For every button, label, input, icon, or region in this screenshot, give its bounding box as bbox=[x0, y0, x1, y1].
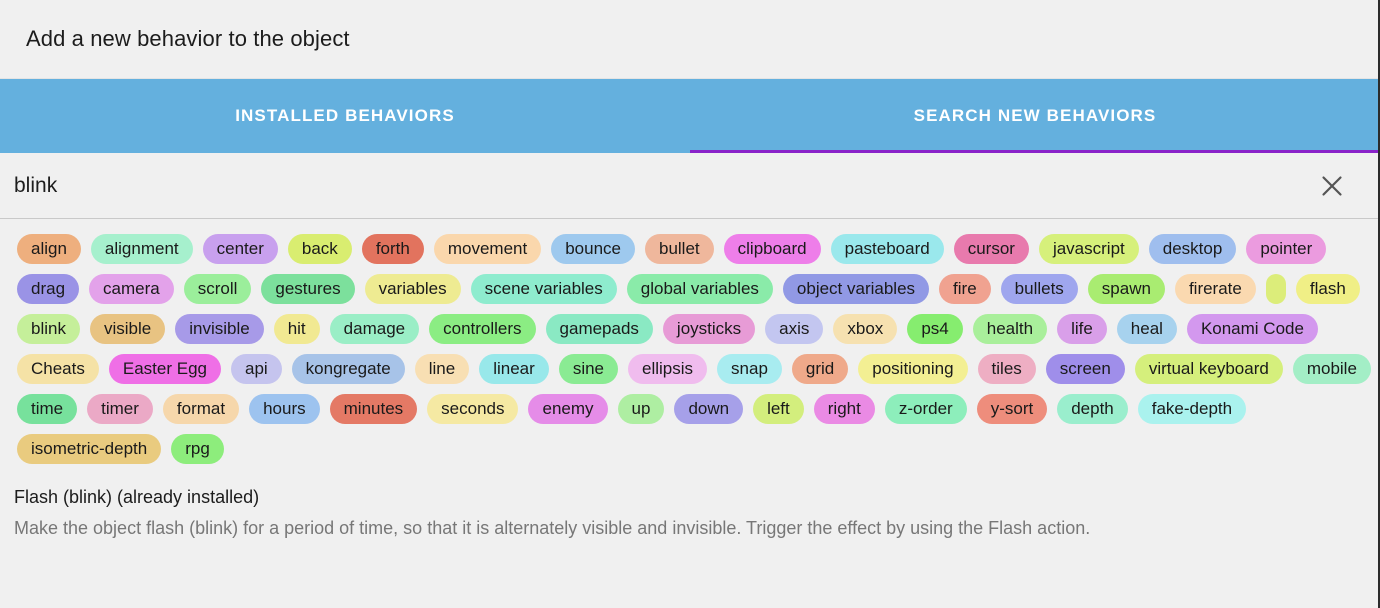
tag-chip[interactable]: object variables bbox=[783, 274, 929, 304]
behavior-title: Flash (blink) (already installed) bbox=[14, 487, 1359, 508]
tag-chip[interactable]: visible bbox=[90, 314, 165, 344]
tag-chip[interactable]: depth bbox=[1057, 394, 1128, 424]
tag-chip[interactable]: up bbox=[618, 394, 665, 424]
tag-chip[interactable]: scene variables bbox=[471, 274, 617, 304]
tag-chip[interactable]: scroll bbox=[184, 274, 252, 304]
tag-chip[interactable]: gestures bbox=[261, 274, 354, 304]
tag-chip[interactable]: down bbox=[674, 394, 743, 424]
add-behavior-dialog: Add a new behavior to the object INSTALL… bbox=[0, 0, 1380, 608]
dialog-titlebar: Add a new behavior to the object bbox=[0, 0, 1380, 79]
tag-chip[interactable]: invisible bbox=[175, 314, 263, 344]
tag-cloud: alignalignmentcenterbackforthmovementbou… bbox=[0, 219, 1380, 469]
behavior-search-results: alignalignmentcenterbackforthmovementbou… bbox=[0, 219, 1380, 608]
tag-chip[interactable]: timer bbox=[87, 394, 153, 424]
tag-chip[interactable]: linear bbox=[479, 354, 549, 384]
tag-chip[interactable]: time bbox=[17, 394, 77, 424]
tag-chip[interactable]: minutes bbox=[330, 394, 418, 424]
tab-search-new-behaviors[interactable]: SEARCH NEW BEHAVIORS bbox=[690, 79, 1380, 153]
tag-chip[interactable]: cursor bbox=[954, 234, 1029, 264]
tag-chip[interactable]: camera bbox=[89, 274, 174, 304]
tag-chip[interactable]: screen bbox=[1046, 354, 1125, 384]
tag-chip[interactable]: javascript bbox=[1039, 234, 1139, 264]
clear-search-button[interactable] bbox=[1310, 164, 1354, 208]
tag-chip[interactable]: joysticks bbox=[663, 314, 755, 344]
tag-chip[interactable]: controllers bbox=[429, 314, 535, 344]
tab-installed-behaviors[interactable]: INSTALLED BEHAVIORS bbox=[0, 79, 690, 153]
tag-chip[interactable]: ps4 bbox=[907, 314, 962, 344]
tag-chip[interactable]: center bbox=[203, 234, 278, 264]
behavior-description: Make the object flash (blink) for a peri… bbox=[14, 517, 1359, 540]
tag-chip[interactable]: grid bbox=[792, 354, 848, 384]
close-icon bbox=[1319, 173, 1345, 199]
tag-chip-blank[interactable] bbox=[1266, 274, 1286, 304]
tag-chip[interactable]: z-order bbox=[885, 394, 967, 424]
tag-chip[interactable]: bounce bbox=[551, 234, 635, 264]
tag-chip[interactable]: tiles bbox=[978, 354, 1036, 384]
tag-chip[interactable]: global variables bbox=[627, 274, 773, 304]
tag-chip[interactable]: align bbox=[17, 234, 81, 264]
tag-chip[interactable]: rpg bbox=[171, 434, 224, 464]
tag-chip[interactable]: blink bbox=[17, 314, 80, 344]
tag-chip[interactable]: pasteboard bbox=[831, 234, 944, 264]
tag-chip[interactable]: pointer bbox=[1246, 234, 1326, 264]
tag-chip[interactable]: heal bbox=[1117, 314, 1177, 344]
tab-search-new-behaviors-label: SEARCH NEW BEHAVIORS bbox=[914, 106, 1157, 126]
tag-chip[interactable]: axis bbox=[765, 314, 823, 344]
tag-chip[interactable]: positioning bbox=[858, 354, 967, 384]
tag-chip[interactable]: damage bbox=[330, 314, 419, 344]
tag-chip[interactable]: movement bbox=[434, 234, 541, 264]
tag-chip[interactable]: enemy bbox=[528, 394, 607, 424]
tag-chip[interactable]: line bbox=[415, 354, 469, 384]
search-input[interactable] bbox=[14, 174, 1310, 198]
tag-chip[interactable]: sine bbox=[559, 354, 618, 384]
tag-chip[interactable]: y-sort bbox=[977, 394, 1048, 424]
tag-chip[interactable]: hours bbox=[249, 394, 320, 424]
dialog-title: Add a new behavior to the object bbox=[26, 26, 350, 52]
tag-chip[interactable]: xbox bbox=[833, 314, 897, 344]
tag-chip[interactable]: desktop bbox=[1149, 234, 1237, 264]
tab-bar: INSTALLED BEHAVIORS SEARCH NEW BEHAVIORS bbox=[0, 79, 1380, 153]
tag-chip[interactable]: clipboard bbox=[724, 234, 821, 264]
tag-chip[interactable]: life bbox=[1057, 314, 1107, 344]
tag-chip[interactable]: firerate bbox=[1175, 274, 1256, 304]
tag-chip[interactable]: spawn bbox=[1088, 274, 1165, 304]
tag-chip[interactable]: snap bbox=[717, 354, 782, 384]
tag-chip[interactable]: bullets bbox=[1001, 274, 1078, 304]
tab-installed-behaviors-label: INSTALLED BEHAVIORS bbox=[235, 106, 455, 126]
tag-chip[interactable]: api bbox=[231, 354, 282, 384]
tag-chip[interactable]: health bbox=[973, 314, 1047, 344]
tag-chip[interactable]: hit bbox=[274, 314, 320, 344]
tag-chip[interactable]: format bbox=[163, 394, 239, 424]
tag-chip[interactable]: drag bbox=[17, 274, 79, 304]
tag-chip[interactable]: isometric-depth bbox=[17, 434, 161, 464]
tag-chip[interactable]: fire bbox=[939, 274, 991, 304]
tag-chip[interactable]: Cheats bbox=[17, 354, 99, 384]
tag-chip[interactable]: right bbox=[814, 394, 875, 424]
tag-chip[interactable]: bullet bbox=[645, 234, 714, 264]
tag-chip[interactable]: ellipsis bbox=[628, 354, 707, 384]
tag-chip[interactable]: fake-depth bbox=[1138, 394, 1246, 424]
tag-chip[interactable]: back bbox=[288, 234, 352, 264]
tag-chip[interactable]: Easter Egg bbox=[109, 354, 221, 384]
tag-chip[interactable]: kongregate bbox=[292, 354, 405, 384]
tag-chip[interactable]: variables bbox=[365, 274, 461, 304]
tag-chip[interactable]: gamepads bbox=[546, 314, 653, 344]
behavior-detail: Flash (blink) (already installed) Make t… bbox=[14, 487, 1359, 540]
tag-chip[interactable]: left bbox=[753, 394, 804, 424]
tag-chip[interactable]: seconds bbox=[427, 394, 518, 424]
tag-chip[interactable]: virtual keyboard bbox=[1135, 354, 1283, 384]
search-bar bbox=[0, 153, 1380, 219]
tag-chip[interactable]: mobile bbox=[1293, 354, 1371, 384]
tag-chip[interactable]: Konami Code bbox=[1187, 314, 1318, 344]
tag-chip[interactable]: flash bbox=[1296, 274, 1360, 304]
tag-chip[interactable]: alignment bbox=[91, 234, 193, 264]
tag-chip[interactable]: forth bbox=[362, 234, 424, 264]
